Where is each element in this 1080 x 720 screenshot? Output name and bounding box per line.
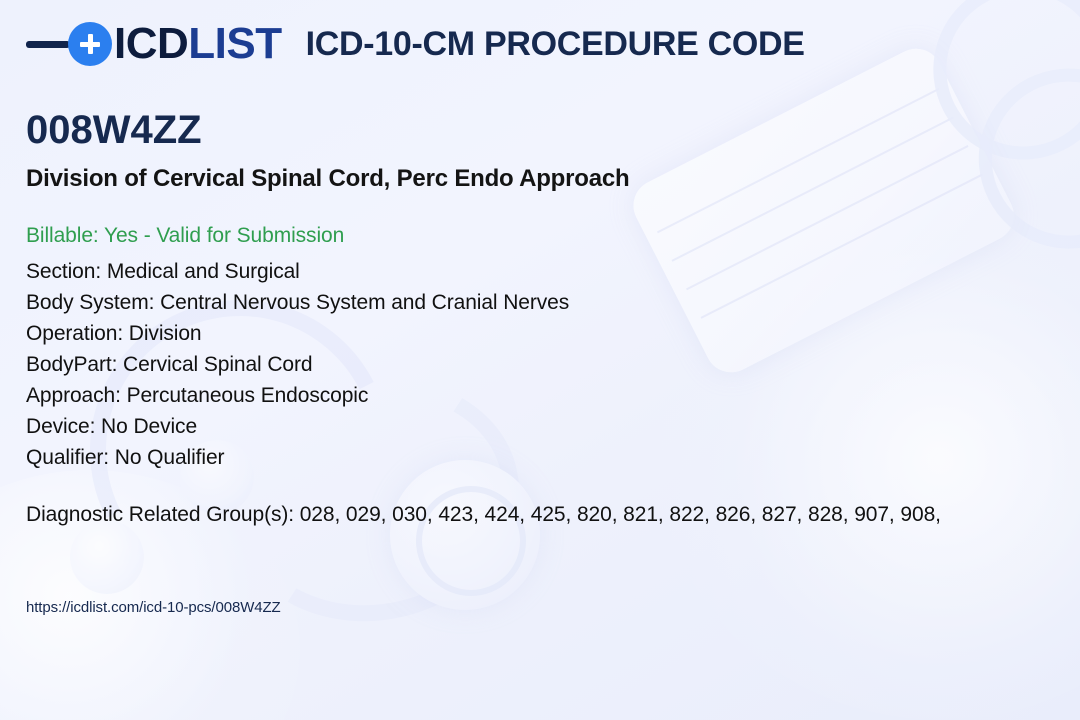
plus-circle-icon	[68, 22, 112, 66]
detail-line-approach: Approach: Percutaneous Endoscopic	[26, 380, 569, 411]
background-glow	[660, 200, 1080, 720]
procedure-description: Division of Cervical Spinal Cord, Perc E…	[26, 165, 630, 193]
logo-text-icd: ICD	[114, 19, 188, 68]
icdlist-logo[interactable]: ICDLIST	[26, 22, 282, 66]
procedure-code-card: ICDLIST ICD-10-CM PROCEDURE CODE 008W4ZZ…	[0, 0, 1080, 720]
dash-icon	[26, 41, 70, 48]
diagnostic-related-groups: Diagnostic Related Group(s): 028, 029, 0…	[26, 503, 941, 527]
detail-list: Section: Medical and Surgical Body Syste…	[26, 256, 569, 473]
detail-line-body-system: Body System: Central Nervous System and …	[26, 287, 569, 318]
logo-wordmark: ICDLIST	[114, 22, 282, 66]
page-title: ICD-10-CM PROCEDURE CODE	[306, 25, 805, 64]
surgical-mask-watermark-icon	[571, 0, 1080, 471]
billable-status-badge: Billable: Yes - Valid for Submission	[26, 224, 344, 248]
detail-line-qualifier: Qualifier: No Qualifier	[26, 442, 569, 473]
detail-line-device: Device: No Device	[26, 411, 569, 442]
detail-line-section: Section: Medical and Surgical	[26, 256, 569, 287]
detail-line-body-part: BodyPart: Cervical Spinal Cord	[26, 349, 569, 380]
header: ICDLIST ICD-10-CM PROCEDURE CODE	[26, 22, 1080, 66]
procedure-code: 008W4ZZ	[26, 110, 202, 150]
logo-text-list: LIST	[188, 19, 281, 68]
detail-line-operation: Operation: Division	[26, 318, 569, 349]
source-url[interactable]: https://icdlist.com/icd-10-pcs/008W4ZZ	[26, 599, 281, 616]
